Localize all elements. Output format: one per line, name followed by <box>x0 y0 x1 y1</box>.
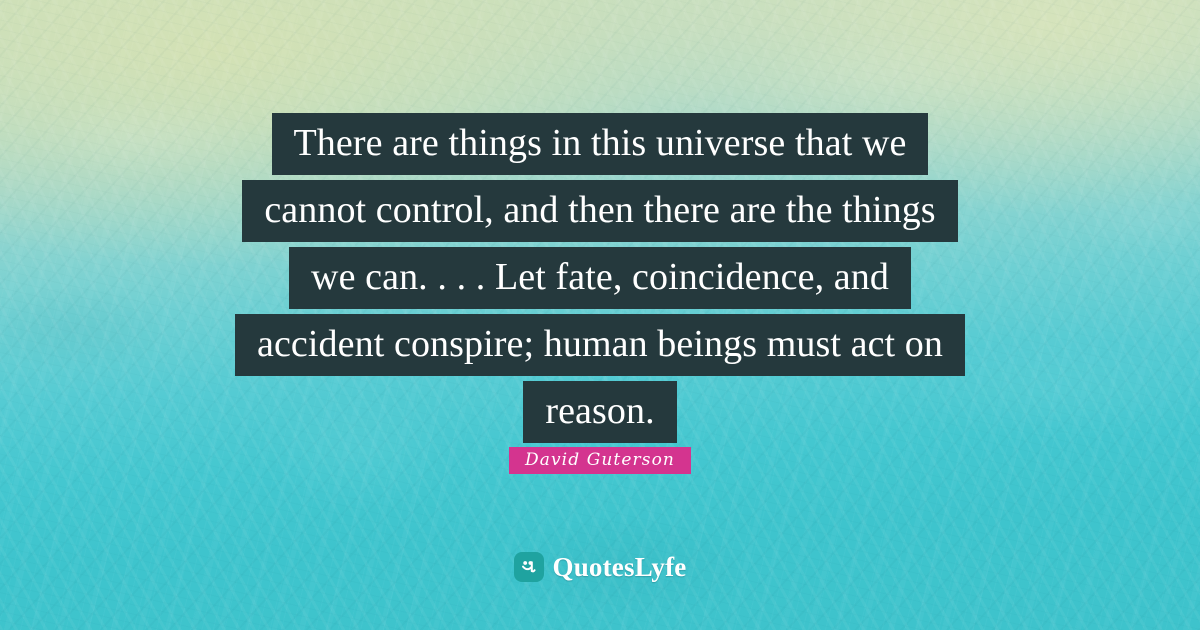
card-content: There are things in this universe that w… <box>0 0 1200 630</box>
brand-name: QuotesLyfe <box>553 552 687 582</box>
quote-line-text: cannot control, and then there are the t… <box>242 180 957 242</box>
quote-line: There are things in this universe that w… <box>0 113 1200 175</box>
quote-text-block: There are things in this universe that w… <box>0 113 1200 443</box>
quote-line-text: we can. . . . Let fate, coincidence, and <box>289 247 911 309</box>
quote-smiley-icon <box>514 552 544 582</box>
quote-line-text: reason. <box>523 381 676 443</box>
quote-line: reason. <box>0 381 1200 443</box>
quote-line-text: There are things in this universe that w… <box>272 113 929 175</box>
quote-line-text: accident conspire; human beings must act… <box>235 314 965 376</box>
brand-logo[interactable]: QuotesLyfe <box>0 552 1200 582</box>
quote-line: accident conspire; human beings must act… <box>0 314 1200 376</box>
quote-line: cannot control, and then there are the t… <box>0 180 1200 242</box>
author-name-badge: David Guterson <box>509 447 691 474</box>
quote-line: we can. . . . Let fate, coincidence, and <box>0 247 1200 309</box>
quote-card: There are things in this universe that w… <box>0 0 1200 630</box>
author-attribution: David Guterson <box>0 447 1200 474</box>
